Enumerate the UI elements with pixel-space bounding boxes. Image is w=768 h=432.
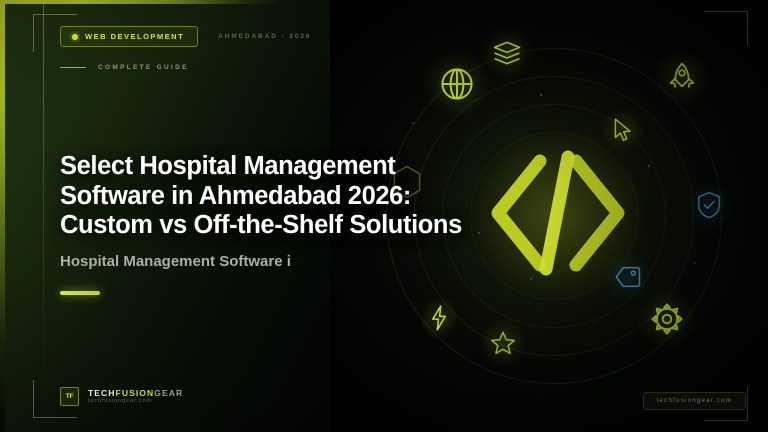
brand-name: TECHFUSIONGEAR	[88, 389, 183, 398]
headline-line-2: Software in Ahmedabad 2026:	[60, 182, 460, 212]
rocket-icon	[666, 61, 698, 93]
location-year-meta: AHMEDABAD · 2026	[218, 33, 311, 40]
particle-dot	[648, 165, 650, 167]
guide-dash-icon	[60, 67, 86, 69]
content-column: WEB DEVELOPMENT AHMEDABAD · 2026 COMPLET…	[60, 0, 460, 432]
brand-part-2: FUSION	[116, 388, 155, 398]
guide-row: COMPLETE GUIDE	[60, 64, 189, 71]
badge-row: WEB DEVELOPMENT AHMEDABAD · 2026	[60, 26, 311, 47]
headline-line-1: Select Hospital Management	[60, 152, 460, 182]
cursor-pointer-icon	[612, 117, 634, 143]
layers-icon	[492, 40, 522, 66]
brand-part-1: TECH	[88, 388, 116, 398]
footer-brand[interactable]: TF TECHFUSIONGEAR techfusiongear.com	[60, 387, 183, 406]
category-badge[interactable]: WEB DEVELOPMENT	[60, 26, 198, 47]
corner-bracket-top-right	[704, 11, 748, 45]
brand-part-3: GEAR	[154, 388, 183, 398]
brand-url: techfusiongear.com	[88, 399, 183, 405]
tag-icon	[614, 264, 642, 290]
promo-banner: WEB DEVELOPMENT AHMEDABAD · 2026 COMPLET…	[0, 0, 768, 432]
gear-icon	[650, 302, 684, 336]
status-dot-icon	[72, 34, 78, 40]
star-icon	[490, 330, 516, 356]
logo-text: TECHFUSIONGEAR techfusiongear.com	[88, 389, 183, 405]
guide-label: COMPLETE GUIDE	[98, 64, 189, 71]
headline-line-3: Custom vs Off-the-Shelf Solutions	[60, 211, 460, 241]
logo-mark-icon: TF	[60, 387, 79, 406]
shield-check-icon	[696, 190, 722, 220]
page-subtitle: Hospital Management Software i	[60, 253, 460, 272]
left-accent-bar	[0, 0, 5, 432]
particle-dot	[694, 262, 696, 264]
particle-dot	[540, 94, 542, 96]
footer-url-pill[interactable]: techfusiongear.com	[643, 392, 746, 410]
category-badge-label: WEB DEVELOPMENT	[85, 32, 184, 41]
accent-bar	[60, 291, 100, 295]
left-hairline	[43, 0, 44, 432]
page-title: Select Hospital Management Software in A…	[60, 152, 460, 241]
